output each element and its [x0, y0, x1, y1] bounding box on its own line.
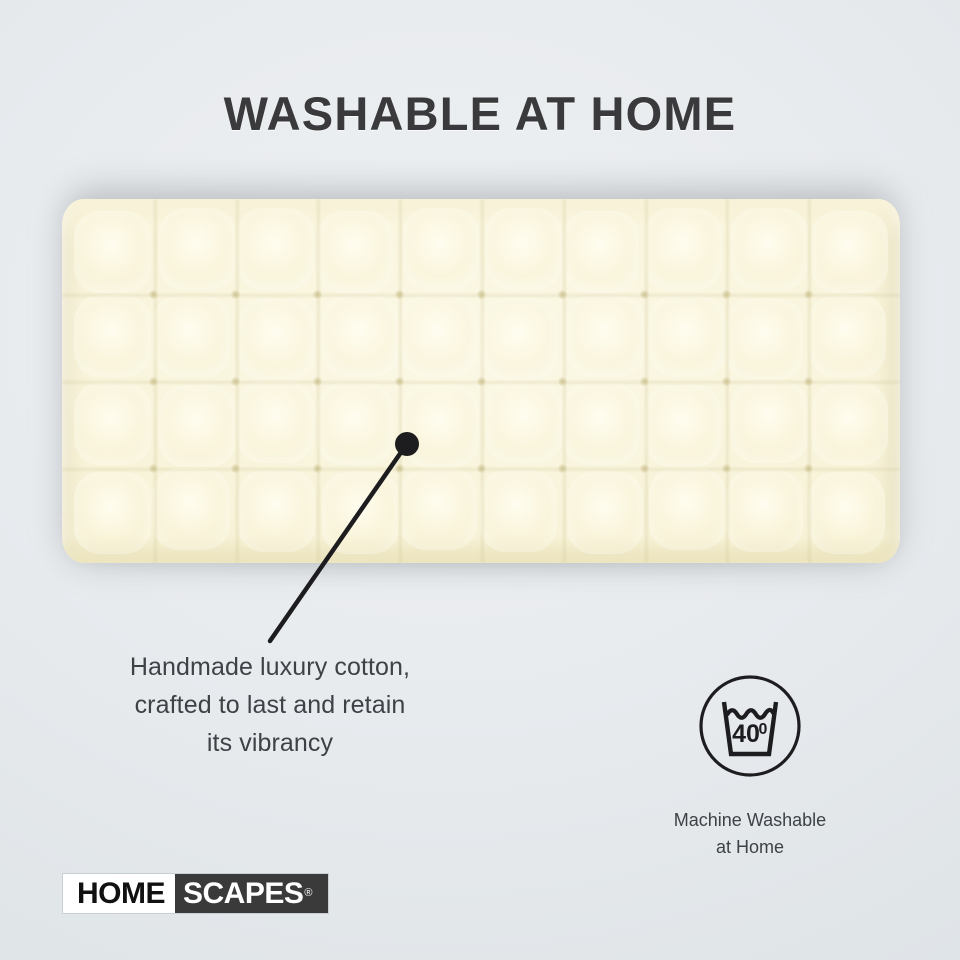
cushion-tuft-cell	[726, 470, 803, 552]
cushion-tuft-point	[804, 290, 813, 299]
cushion-tuft-cell	[400, 295, 477, 377]
registered-trademark-icon: ®	[304, 888, 312, 899]
cushion-tuft-cell	[567, 295, 644, 377]
cushion-tuft-point	[558, 290, 567, 299]
cushion-tuft-point	[395, 464, 404, 473]
cushion-tuft-point	[313, 464, 322, 473]
cushion-tuft-cell	[400, 468, 477, 550]
cushion-tuft-point	[804, 377, 813, 386]
machine-washable-badge: 40 0 Machine Washable at Home	[620, 672, 880, 861]
cushion-tuft-cell	[567, 472, 644, 554]
cushion-tuft-point	[313, 377, 322, 386]
water-wave-icon	[728, 710, 774, 718]
cushion-tuft-cell	[74, 383, 151, 465]
logo-home-text: HOME	[63, 874, 175, 913]
cushion-tuft-point	[231, 377, 240, 386]
cushion-tuft-point	[477, 464, 486, 473]
cushion-tuft-cell	[237, 208, 314, 290]
wash-temperature: 40	[732, 720, 760, 748]
logo-scapes-text: SCAPES	[183, 879, 303, 909]
cushion-tuft-cell	[726, 298, 803, 380]
cushion-tuft-cell	[74, 472, 151, 554]
cushion-tuft-cell	[317, 211, 394, 293]
cushion-tuft-cell	[238, 298, 315, 380]
cushion-tuft-cell	[731, 208, 808, 290]
cushion-tuft-cell	[403, 208, 480, 290]
cushion-tuft-cell	[322, 295, 399, 377]
cushion-tuft-cell	[159, 385, 236, 467]
promo-image: WASHABLE AT HOME Handmade luxury cotton,…	[0, 0, 960, 960]
cushion-tuft-cell	[481, 298, 558, 380]
cushion-tuft-point	[804, 464, 813, 473]
cushion-tuft-point	[231, 464, 240, 473]
cushion-tuft-point	[722, 377, 731, 386]
cushion-tuft-cell	[731, 381, 808, 463]
cushion-tuft-cell	[237, 381, 314, 463]
cushion-tuft-cell	[486, 381, 563, 463]
caption-line-3: its vibrancy	[45, 724, 495, 762]
cushion-tuft-point	[558, 377, 567, 386]
caption-line-2: crafted to last and retain	[45, 686, 495, 724]
page-title: WASHABLE AT HOME	[0, 86, 960, 141]
badge-label: Machine Washable at Home	[620, 807, 880, 861]
cushion-tuft-cell	[811, 211, 888, 293]
cushion-tuft-point	[640, 464, 649, 473]
cushion-tuft-cell	[74, 295, 151, 377]
caption-line-1: Handmade luxury cotton,	[45, 648, 495, 686]
cushion-tuft-cell	[563, 211, 640, 293]
cushion-tuft-cell	[153, 468, 230, 550]
bench-cushion	[62, 199, 900, 563]
brand-logo: HOME SCAPES®	[62, 873, 329, 914]
cushion-tuft-cell	[645, 208, 722, 290]
cushion-tuft-cell	[238, 470, 315, 552]
cushion-tuft-point	[149, 290, 158, 299]
cushion-tuft-point	[722, 464, 731, 473]
cushion-tuft-point	[477, 290, 486, 299]
cushion-tuft-cell	[809, 472, 886, 554]
cushion-tuft-point	[477, 377, 486, 386]
product-caption: Handmade luxury cotton, crafted to last …	[45, 648, 495, 762]
product-image	[58, 185, 904, 575]
badge-icon-holder: 40 0	[620, 672, 880, 785]
cushion-tuft-point	[722, 290, 731, 299]
cushion-tuft-cell	[645, 385, 722, 467]
cushion-tuft-cell	[317, 383, 394, 465]
cushion-tuft-point	[640, 377, 649, 386]
cushion-tuft-point	[395, 377, 404, 386]
cushion-tuft-point	[149, 377, 158, 386]
cushion-tuft-point	[231, 290, 240, 299]
cushion-tuft-point	[313, 290, 322, 299]
badge-label-line-1: Machine Washable	[620, 807, 880, 834]
cushion-tuft-cell	[563, 383, 640, 465]
cushion-tuft-cell	[485, 208, 562, 290]
cushion-tuft-point	[149, 464, 158, 473]
cushion-tuft-cell	[649, 468, 726, 550]
cushion-tuft-cell	[649, 295, 726, 377]
machine-wash-40-icon: 40 0	[696, 672, 804, 780]
wash-degree-symbol: 0	[759, 721, 768, 738]
cushion-tuft-cell	[322, 472, 399, 554]
cushion-tuft-cell	[74, 211, 151, 293]
cushion-tuft-cell	[812, 383, 889, 465]
cushion-tuft-cell	[480, 470, 557, 552]
cushion-tuft-cell	[809, 295, 886, 377]
badge-label-line-2: at Home	[620, 834, 880, 861]
cushion-tuft-cell	[402, 385, 479, 467]
cushion-tuft-point	[558, 464, 567, 473]
cushion-tuft-cell	[153, 295, 230, 377]
cushion-tuft-cell	[159, 208, 236, 290]
cushion-tuft-point	[395, 290, 404, 299]
cushion-tuft-point	[640, 290, 649, 299]
logo-scapes-block: SCAPES®	[175, 874, 328, 913]
